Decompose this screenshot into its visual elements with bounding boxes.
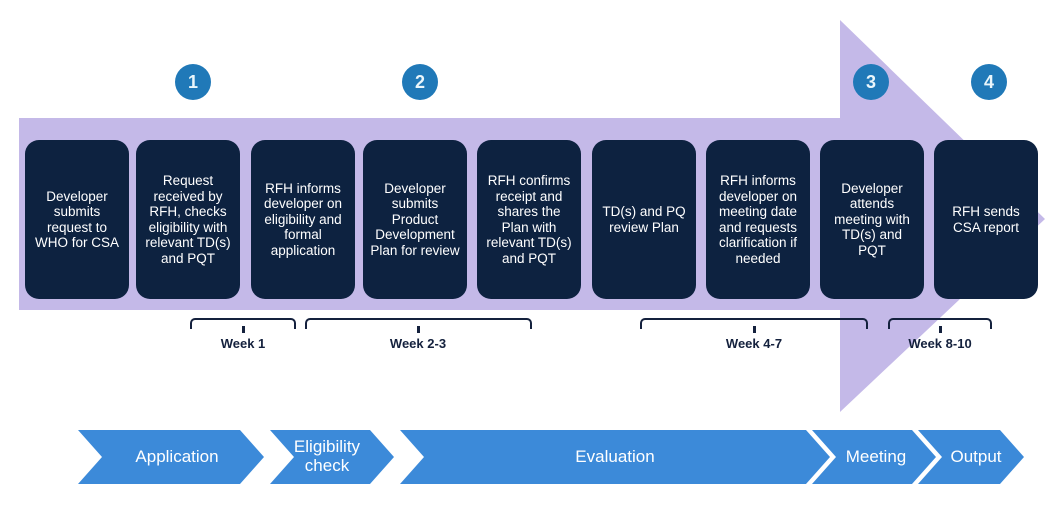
process-box-5-text: RFH confirms receipt and shares the Plan… xyxy=(484,173,574,266)
phase-label-evaluation: Evaluation xyxy=(424,447,806,466)
process-box-1-text: Developer submits request to WHO for CSA xyxy=(32,189,122,251)
process-box-9-text: RFH sends CSA report xyxy=(941,204,1031,235)
step-circle-1: 1 xyxy=(175,64,211,100)
process-box-5: RFH confirms receipt and shares the Plan… xyxy=(477,140,581,299)
process-box-3-text: RFH informs developer on eligibility and… xyxy=(258,181,348,259)
week-bracket-4-tick xyxy=(939,326,942,333)
phase-label-application: Application xyxy=(102,447,252,466)
step-circle-2: 2 xyxy=(402,64,438,100)
week-label-4: Week 8-10 xyxy=(880,336,1000,351)
process-box-9: RFH sends CSA report xyxy=(934,140,1038,299)
step-circle-2-label: 2 xyxy=(415,73,425,91)
week-label-1: Week 1 xyxy=(183,336,303,351)
week-label-2: Week 2-3 xyxy=(358,336,478,351)
week-bracket-1-tick xyxy=(242,326,245,333)
week-bracket-2-tick xyxy=(417,326,420,333)
process-box-4: Developer submits Product Development Pl… xyxy=(363,140,467,299)
process-box-4-text: Developer submits Product Development Pl… xyxy=(370,181,460,259)
process-box-7-text: RFH informs developer on meeting date an… xyxy=(713,173,803,266)
step-circle-4: 4 xyxy=(971,64,1007,100)
process-box-2-text: Request received by RFH, checks eligibil… xyxy=(143,173,233,266)
process-box-2: Request received by RFH, checks eligibil… xyxy=(136,140,240,299)
process-box-8-text: Developer attends meeting with TD(s) and… xyxy=(827,181,917,259)
process-box-3: RFH informs developer on eligibility and… xyxy=(251,140,355,299)
step-circle-1-label: 1 xyxy=(188,73,198,91)
step-circle-4-label: 4 xyxy=(984,73,994,91)
process-box-8: Developer attends meeting with TD(s) and… xyxy=(820,140,924,299)
process-box-6: TD(s) and PQ review Plan xyxy=(592,140,696,299)
phase-label-eligibility-check: Eligibility check xyxy=(272,437,382,475)
process-box-1: Developer submits request to WHO for CSA xyxy=(25,140,129,299)
process-flow-diagram: 1 2 3 4 Developer submits request to WHO… xyxy=(0,0,1055,509)
step-circle-3-label: 3 xyxy=(866,73,876,91)
phase-label-meeting: Meeting xyxy=(826,447,926,466)
week-bracket-3-tick xyxy=(753,326,756,333)
step-circle-3: 3 xyxy=(853,64,889,100)
week-label-3: Week 4-7 xyxy=(694,336,814,351)
phase-label-output: Output xyxy=(934,447,1018,466)
process-box-6-text: TD(s) and PQ review Plan xyxy=(599,204,689,235)
process-box-7: RFH informs developer on meeting date an… xyxy=(706,140,810,299)
